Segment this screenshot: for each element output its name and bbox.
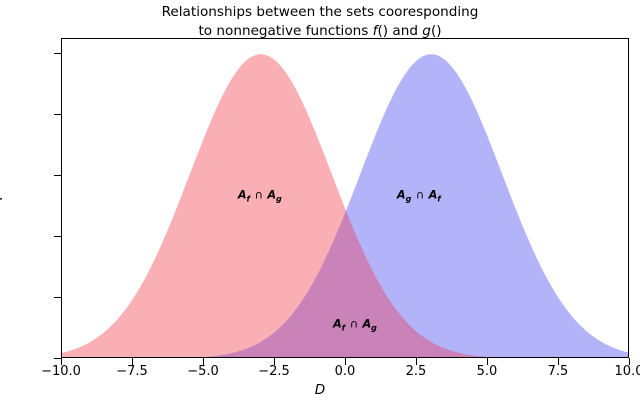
x-tick-label: 2.5 <box>406 364 427 379</box>
y-tick-mark <box>54 236 61 237</box>
y-tick-mark <box>54 114 61 115</box>
x-tick-label: 5.0 <box>477 364 498 379</box>
set-annotation-left: Af ∩ Ag <box>238 189 282 204</box>
y-axis-label: Y <box>0 194 6 202</box>
plot-area <box>61 38 629 358</box>
y-tick-mark <box>54 53 61 54</box>
x-tick-label: 10.0 <box>615 364 640 379</box>
x-axis-label: D <box>0 382 640 398</box>
curve-svg <box>62 39 629 358</box>
x-tick-label: 0.0 <box>335 364 356 379</box>
chart-page: Relationships between the sets coorespon… <box>0 0 640 402</box>
y-tick-mark <box>54 175 61 176</box>
page-title: Relationships between the sets coorespon… <box>0 3 640 40</box>
x-tick-label: 7.5 <box>548 364 569 379</box>
x-tick-label: −5.0 <box>187 364 219 379</box>
set-annotation-right: Ag ∩ Af <box>397 189 441 204</box>
y-tick-mark <box>54 358 61 359</box>
y-tick-mark <box>54 297 61 298</box>
set-annotation-overlap: Af ∩ Ag <box>333 317 377 332</box>
x-tick-label: −7.5 <box>116 364 148 379</box>
x-tick-label: −10.0 <box>41 364 81 379</box>
x-tick-label: −2.5 <box>258 364 290 379</box>
